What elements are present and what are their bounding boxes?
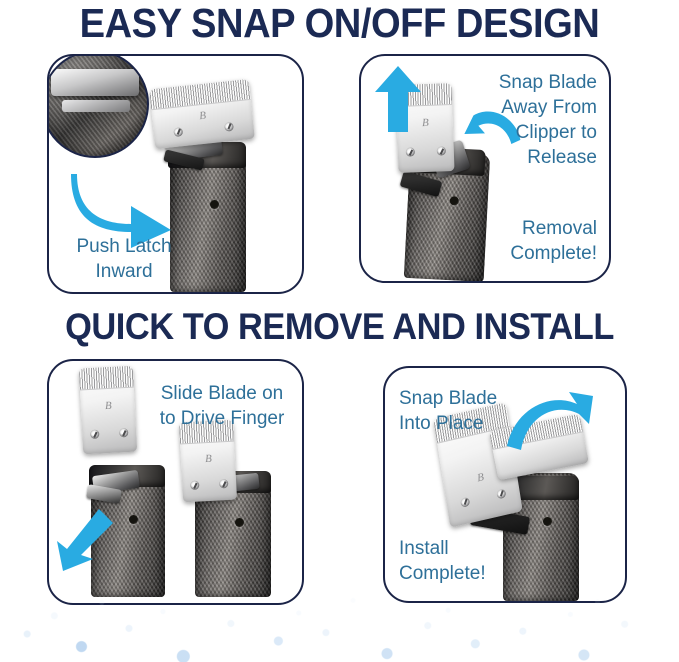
straight-arrow-up <box>375 66 421 132</box>
blade-logo: B <box>199 110 206 123</box>
page-title-top: EASY SNAP ON/OFF DESIGN <box>24 0 655 46</box>
caption-snap-blade-into-place: Snap Blade Into Place <box>399 386 531 436</box>
blade-screw-right <box>219 479 228 488</box>
panel-snap-blade-into-place: B Snap Blade Into Place Install Complete… <box>383 366 627 603</box>
floating-blade: B <box>79 366 137 455</box>
clipper-illustration-3-right: B <box>171 425 283 597</box>
blade-logo: B <box>422 117 428 129</box>
panel-push-latch-inward: B Push Latch Inward <box>47 54 304 294</box>
blade-screw-left <box>173 127 183 137</box>
blade-logo: B <box>105 400 111 412</box>
blade-screw-left <box>406 148 415 157</box>
inset-blade-highlight <box>51 69 138 96</box>
blade-logo: B <box>205 453 211 465</box>
latch-closeup-circle-inset <box>47 54 149 158</box>
infographic-page: EASY SNAP ON/OFF DESIGN B <box>0 0 679 662</box>
blade-screw-left <box>190 481 199 490</box>
clipper-blade: B <box>149 79 255 149</box>
panel-snap-blade-away: B Snap Blade Away From Clipper to Releas… <box>359 54 611 283</box>
blade-screw-right <box>119 428 128 437</box>
page-title-middle: QUICK TO REMOVE AND INSTALL <box>24 306 655 348</box>
inset-latch-highlight <box>62 100 131 112</box>
blade-screw-right <box>224 122 234 132</box>
caption-push-latch-inward: Push Latch Inward <box>55 234 193 284</box>
blade-teeth <box>149 79 251 111</box>
blade-logo: B <box>476 471 483 484</box>
blade-screw-left <box>90 429 99 438</box>
panel-slide-blade-on: B B Slide Blade on to Drive Finger <box>47 359 304 605</box>
caption-slide-blade-on: Slide Blade on to Drive Finger <box>146 381 298 431</box>
blade-screw-left <box>460 496 470 507</box>
blade-screw-right <box>437 147 446 156</box>
caption-removal-complete: Removal Complete! <box>449 216 597 266</box>
caption-install-complete: Install Complete! <box>399 536 531 586</box>
arrow-down-left <box>55 509 113 571</box>
blade-screw-right <box>496 488 506 499</box>
caption-snap-blade-away: Snap Blade Away From Clipper to Release <box>449 70 597 170</box>
seated-blade: B <box>179 420 237 503</box>
blade-teeth <box>79 366 134 390</box>
